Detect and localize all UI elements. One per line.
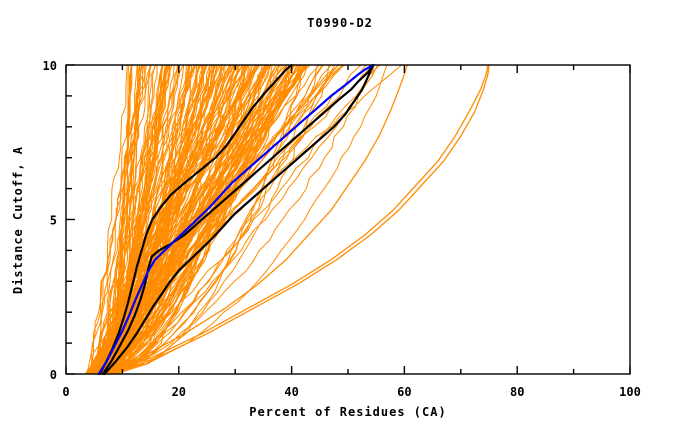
x-tick-label: 40 <box>284 385 298 399</box>
x-tick-label: 100 <box>619 385 641 399</box>
y-axis-title: Distance Cutoff, A <box>11 146 25 294</box>
chart-root: T0990-D2 0204060801000510 Percent of Res… <box>0 0 680 440</box>
x-tick-label: 0 <box>62 385 69 399</box>
prediction-curve-bundle <box>85 65 402 374</box>
y-tick-label: 10 <box>43 59 57 73</box>
plot-area: 0204060801000510 Percent of Residues (CA… <box>0 0 680 440</box>
x-tick-label: 20 <box>172 385 186 399</box>
y-tick-label: 5 <box>50 214 57 228</box>
x-tick-label: 80 <box>510 385 524 399</box>
x-axis-title: Percent of Residues (CA) <box>249 405 446 419</box>
y-tick-label: 0 <box>50 368 57 382</box>
x-tick-label: 60 <box>397 385 411 399</box>
